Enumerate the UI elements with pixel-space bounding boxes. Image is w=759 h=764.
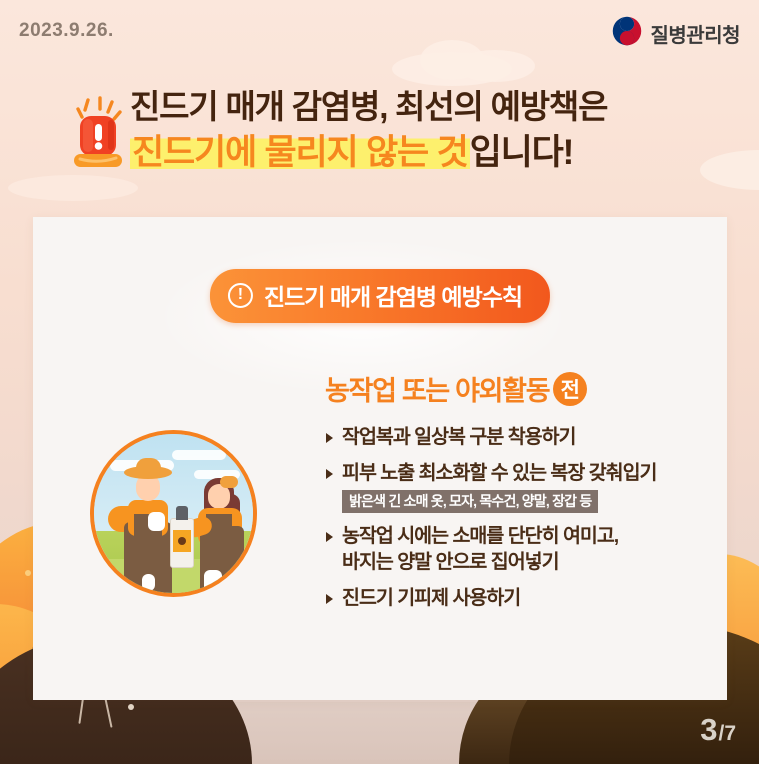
rule-note: 밝은색 긴 소매 옷, 모자, 목수건, 양말, 장갑 등 [342,490,598,513]
cloud-shape [455,50,535,82]
alarm-siren-icon [64,94,130,174]
rules-text-block: 농작업 또는 야외활동 전 작업복과 일상복 구분 착용하기 피부 노출 최소화… [325,369,725,621]
headline-line-2: 진드기에 물리지 않는 것입니다! [130,130,722,176]
list-item: 피부 노출 최소화할 수 있는 복장 갖춰입기 밝은색 긴 소매 옷, 모자, … [325,460,725,513]
rule-text: 진드기 기피제 사용하기 [342,587,520,609]
rule-text-line-2: 바지는 양말 안으로 집어넣기 [342,549,725,575]
rule-text: 작업복과 일상복 구분 착용하기 [342,426,575,448]
cloud-shape [420,40,484,80]
glove-shape [142,574,155,591]
page-total: /7 [718,722,736,746]
glove-shape [148,512,165,531]
infographic-slide: 2023.9.26. 질병관리청 [0,0,759,764]
headline-highlight: 진드기에 물리지 않는 것 [130,133,470,172]
tree-shape [8,540,26,574]
section-badge-label: 진드기 매개 감염병 예방수칙 [264,278,522,312]
content-card: ! 진드기 매개 감염병 예방수칙 [33,217,727,700]
rule-text: 농작업 시에는 소매를 단단히 여미고, [342,525,618,547]
headscarf-shape [220,476,238,488]
glove-shape [204,570,222,592]
cloud-shape [8,175,138,201]
page-current: 3 [700,712,717,748]
organization-name: 질병관리청 [651,19,741,48]
rules-list: 작업복과 일상복 구분 착용하기 피부 노출 최소화할 수 있는 복장 갖춰입기… [325,424,725,611]
section-badge: ! 진드기 매개 감염병 예방수칙 [210,269,550,323]
rule-text: 피부 노출 최소화할 수 있는 복장 갖춰입기 [342,462,657,484]
subsection-title-text: 농작업 또는 야외활동 [325,369,549,408]
page-indicator: 3 /7 [700,712,736,748]
hat-crown-shape [136,458,161,474]
spray-label-dot [178,537,186,545]
taegeuk-logo-icon [612,16,642,51]
ground-strip [0,702,759,764]
list-item: 작업복과 일상복 구분 착용하기 [325,424,725,450]
date-label: 2023.9.26. [19,20,114,42]
organization-brand: 질병관리청 [612,16,741,51]
cloud-shape [392,52,512,86]
list-item: 진드기 기피제 사용하기 [325,585,725,611]
exclamation-circle-icon: ! [228,283,253,308]
farmers-with-repellent-illustration [90,430,257,597]
headline-tail: 입니다! [470,133,573,172]
headline-text: 진드기 매개 감염병, 최선의 예방책은 진드기에 물리지 않는 것입니다! [130,86,722,176]
spray-nozzle [176,506,188,520]
headline-line-1: 진드기 매개 감염병, 최선의 예방책은 [130,86,722,128]
cloud-shape [172,450,226,460]
headline-block: 진드기 매개 감염병, 최선의 예방책은 진드기에 물리지 않는 것입니다! [62,86,722,176]
subsection-title: 농작업 또는 야외활동 전 [325,369,725,408]
berry-shape [128,704,134,710]
subsection-title-badge: 전 [553,372,587,406]
list-item: 농작업 시에는 소매를 단단히 여미고, 바지는 양말 안으로 집어넣기 [325,523,725,575]
